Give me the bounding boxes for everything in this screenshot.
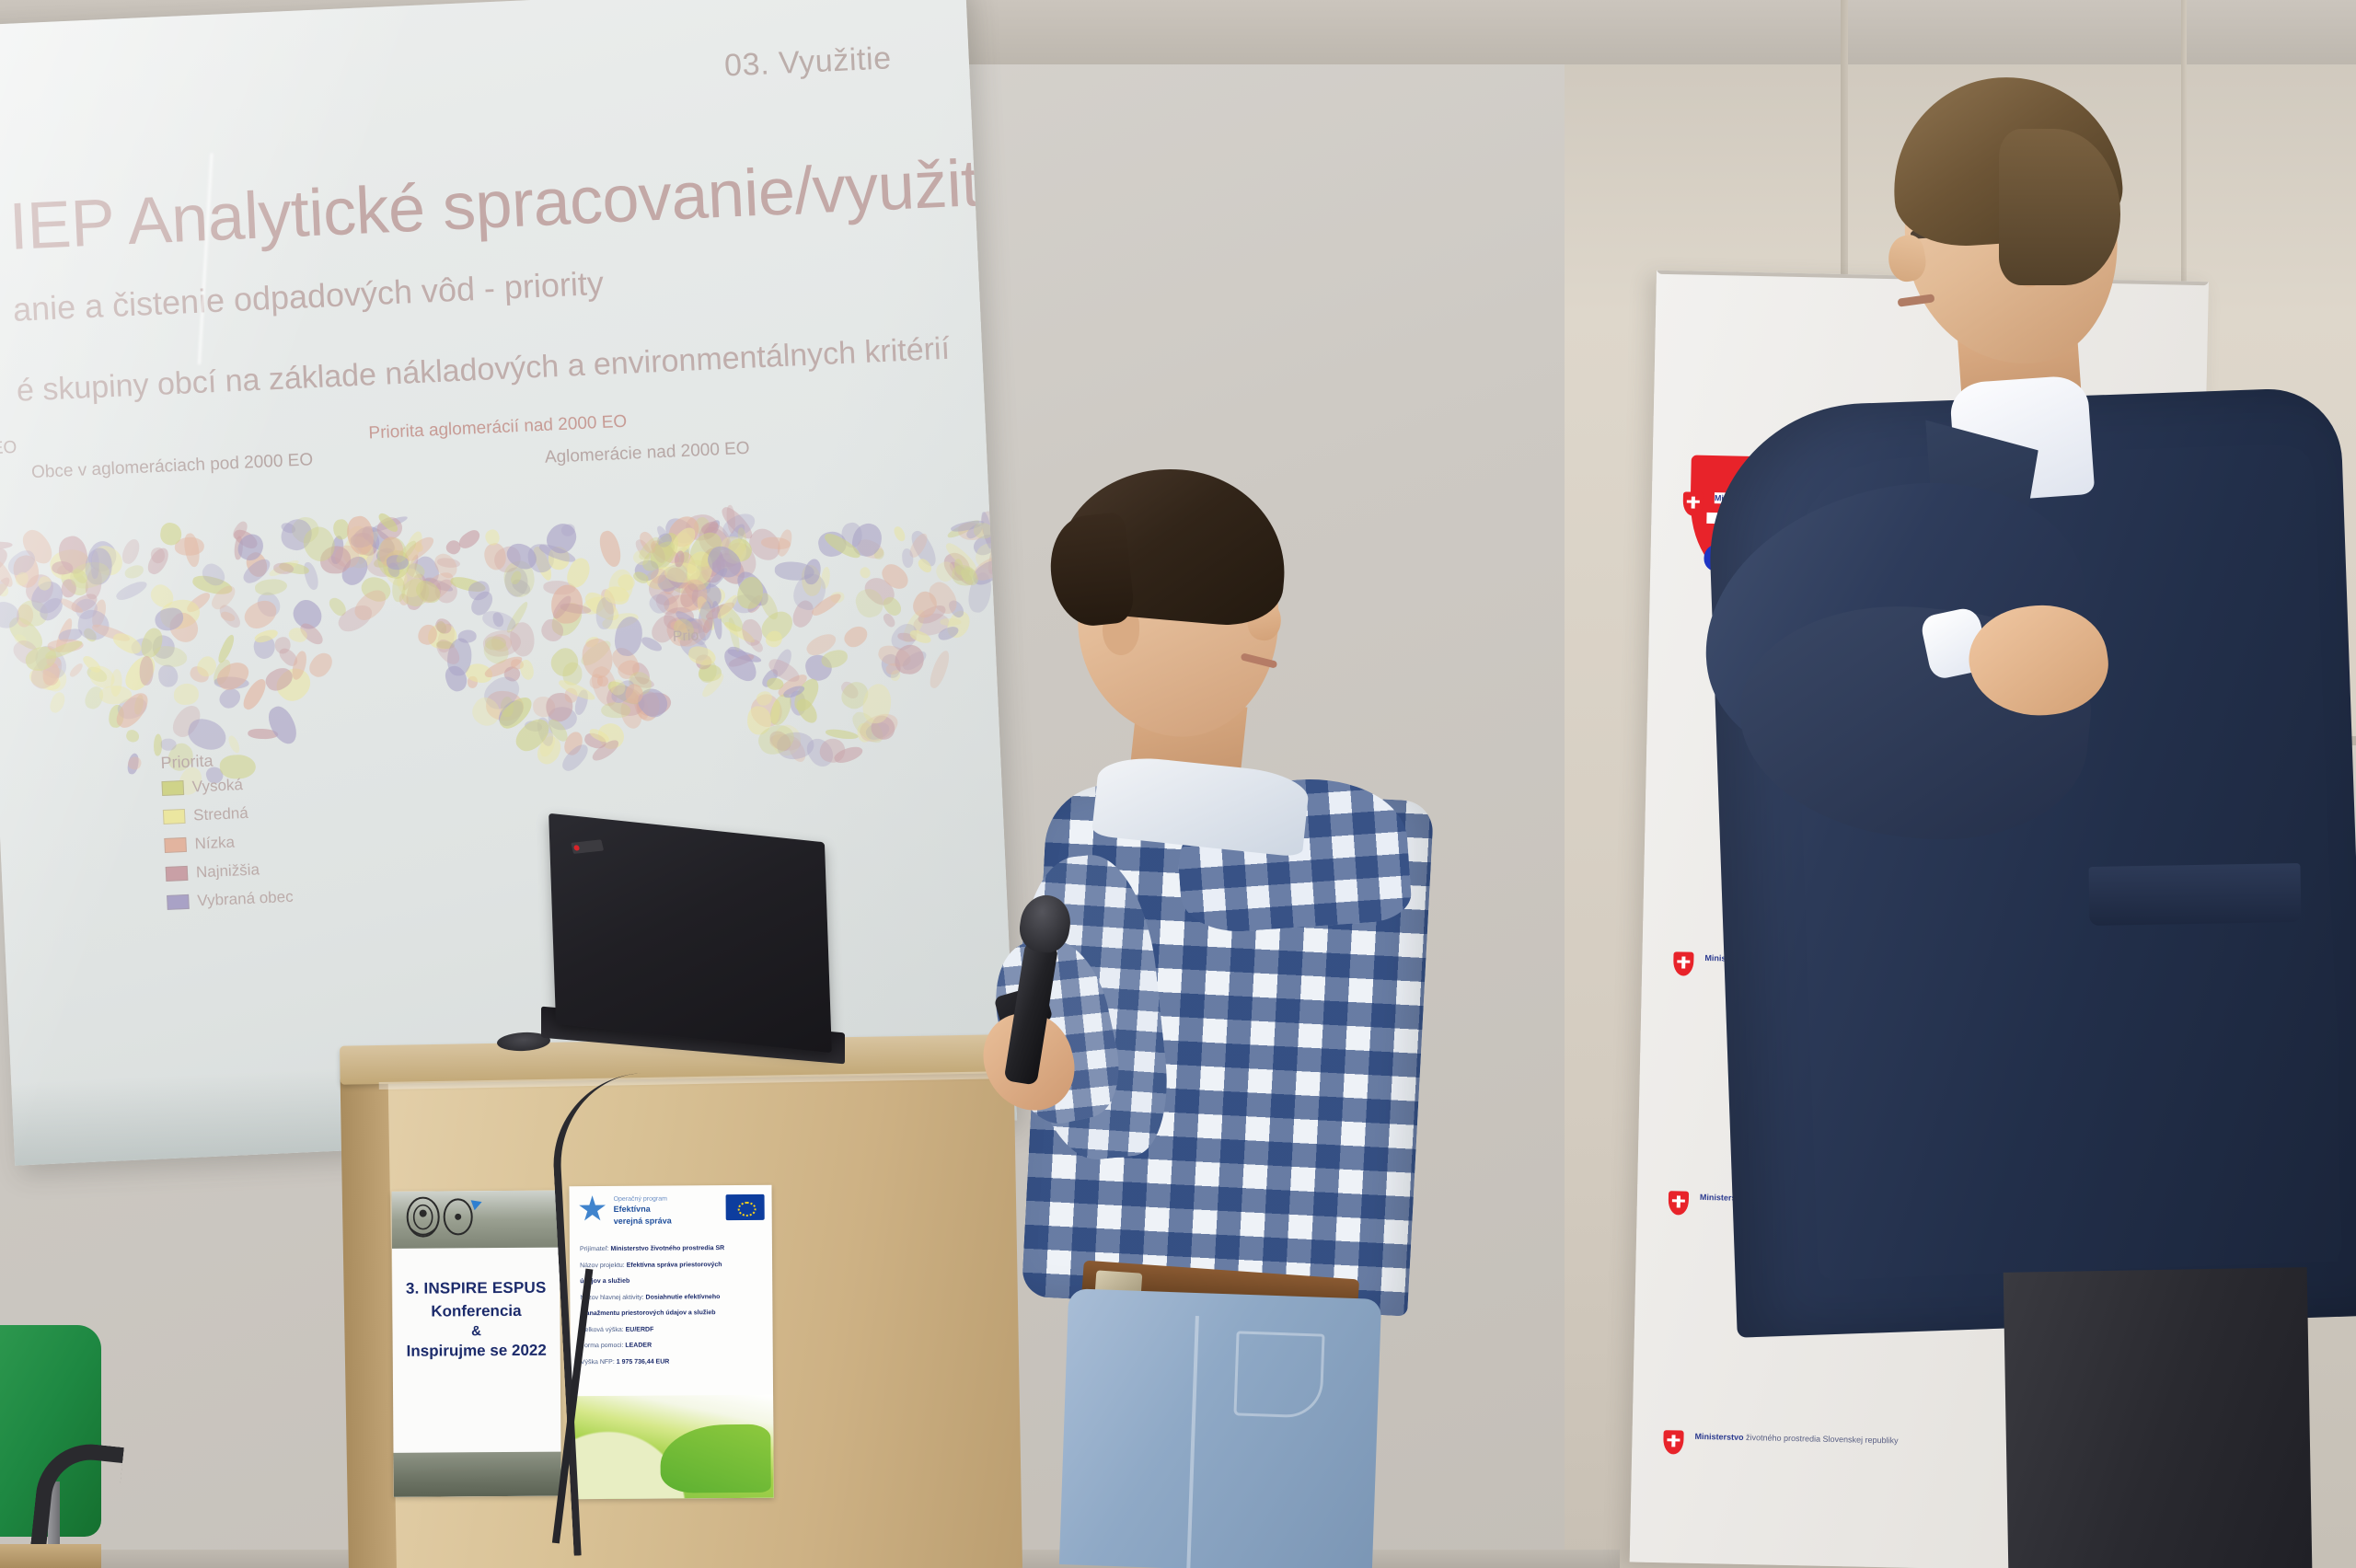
listener-pocket-flap: [2088, 863, 2301, 926]
lectern: 3. INSPIRE ESPUS Konferencia & Inspirujm…: [340, 1033, 1057, 1568]
map-region: [306, 649, 336, 681]
map-region: [263, 703, 302, 749]
map-label-partial: EO: [0, 438, 17, 459]
map-region: [182, 532, 202, 568]
poster-line-3: &: [393, 1323, 560, 1340]
slide-subtitle-primary: anie a čistenie odpadových vôd - priorit…: [12, 264, 605, 329]
map-region: [793, 696, 821, 726]
map-region: [68, 662, 85, 679]
legend-label: Najnižšia: [196, 860, 260, 882]
espus-logo: [399, 1196, 491, 1245]
map-region: [457, 630, 476, 643]
map-region: [596, 529, 625, 570]
map-region: [892, 525, 907, 543]
legend-label: Vybraná obec: [197, 888, 294, 911]
map-region: [927, 649, 952, 690]
legend-row: Nízka: [164, 831, 291, 855]
speaker-hair-side: [1045, 512, 1136, 629]
presentation-photo-scene: 03. Využitie IEP Analytické spracovanie/…: [0, 0, 2356, 1568]
slide-subtitle-secondary: é skupiny obcí na základe nákladových a …: [16, 331, 951, 409]
speaker-jeans: [1059, 1288, 1381, 1568]
map-region: [120, 536, 142, 566]
map-region: [144, 545, 172, 578]
map-region: [158, 664, 179, 688]
poster-line-2: Konferencia: [392, 1302, 560, 1321]
lectern-side-panel: [341, 1078, 397, 1568]
listener-person: [1629, 55, 2356, 1568]
chair-seat: [0, 1544, 101, 1568]
legend-label: Nízka: [194, 834, 235, 854]
legend-label: Vysoká: [191, 776, 243, 796]
legend-label: Stredná: [193, 804, 248, 825]
map-label-left: Obce v aglomeráciach pod 2000 EO: [31, 450, 314, 483]
legend-row: Vybraná obec: [167, 888, 294, 912]
green-chair: [0, 1325, 184, 1568]
map-region: [518, 658, 537, 681]
map-region: [90, 550, 98, 579]
thinkpad-laptop: [552, 828, 856, 1058]
conference-poster: 3. INSPIRE ESPUS Konferencia & Inspirujm…: [392, 1191, 561, 1497]
map-region: [47, 690, 67, 715]
legend-color-swatch: [166, 866, 189, 882]
map-region: [841, 622, 872, 651]
map-region: [124, 729, 141, 744]
legend-color-swatch: [161, 780, 184, 796]
speaker-person: [994, 460, 1436, 1568]
map-label-small: Prio: [673, 628, 699, 645]
laptop-lid: [549, 813, 832, 1054]
legend-row: Najnižšia: [166, 859, 293, 883]
map-label-center: Priorita aglomerácií nad 2000 EO: [368, 412, 628, 444]
map-legend: Priorita VysokáStrednáNízkaNajnižšiaVybr…: [160, 748, 294, 922]
legend-color-swatch: [163, 809, 186, 824]
projection-screen: 03. Využitie IEP Analytické spracovanie/…: [0, 0, 1017, 1166]
listener-trousers: [2004, 1267, 2314, 1568]
poster-photo-bottom: [393, 1452, 560, 1497]
poster-line-4: Inspirujme se 2022: [393, 1342, 560, 1361]
map-region: [173, 684, 199, 705]
speaker-jeans-pocket: [1233, 1331, 1324, 1418]
map-region: [123, 563, 145, 581]
map-region: [115, 578, 150, 604]
map-region: [139, 656, 153, 686]
map-region: [776, 528, 795, 558]
map-region: [940, 618, 961, 627]
legend-row: Stredná: [163, 802, 290, 826]
eu-flag-icon: [726, 1194, 765, 1220]
presentation-slide: 03. Využitie IEP Analytické spracovanie/…: [0, 0, 1017, 1166]
poster-title-block: 3. INSPIRE ESPUS Konferencia & Inspirujm…: [392, 1279, 560, 1361]
legend-row: Vysoká: [161, 774, 288, 798]
slide-title: IEP Analytické spracovanie/využitie geod…: [7, 133, 1017, 265]
map-region: [254, 577, 288, 596]
poster-line-1: 3. INSPIRE ESPUS: [392, 1279, 560, 1298]
map-region: [480, 608, 517, 633]
slide-section-kicker: 03. Využitie: [723, 40, 892, 84]
thinkpad-logo-icon: [571, 839, 604, 854]
legend-color-swatch: [164, 837, 187, 853]
legend-color-swatch: [167, 894, 190, 910]
